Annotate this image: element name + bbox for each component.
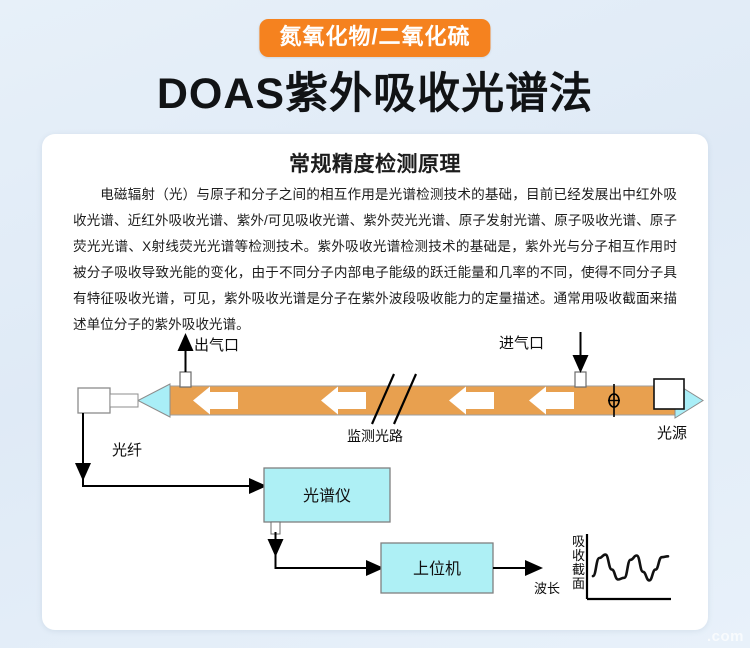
label-chart-yaxis: 吸收截面 [572,534,585,591]
label-light-source: 光源 [657,425,687,442]
label-gas-outlet: 出气口 [194,337,239,354]
spectrometer-box[interactable]: 光谱仪 [264,468,390,522]
host-computer-box[interactable]: 上位机 [381,543,493,593]
absorption-cross-section-chart [587,534,671,599]
measurement-tube [170,374,675,424]
spectrometer-label: 光谱仪 [303,487,351,505]
detector-head [78,384,170,417]
watermark: .com [707,628,744,645]
spectrum-curve [593,555,668,581]
label-optical-path: 监测光路 [347,428,403,444]
label-optical-fiber: 光纤 [112,442,142,459]
category-badge: 氮氧化物/二氧化硫 [259,19,490,57]
label-gas-inlet: 进气口 [499,335,544,352]
principle-diagram: 光谱仪 上位机 [42,134,708,630]
content-card: 常规精度检测原理 电磁辐射（光）与原子和分子之间的相互作用是光谱检测技术的基础，… [42,134,708,630]
gas-outlet-port [180,336,191,387]
spectrometer-to-host-connector [271,522,381,568]
page-title: DOAS紫外吸收光谱法 [0,70,750,119]
gas-inlet-port [575,332,586,387]
label-chart-xaxis: 波长 [534,581,560,596]
page-root: 氮氧化物/二氧化硫 DOAS紫外吸收光谱法 常规精度检测原理 电磁辐射（光）与原… [0,0,750,648]
host-computer-label: 上位机 [413,560,461,578]
fiber-path [83,413,264,486]
